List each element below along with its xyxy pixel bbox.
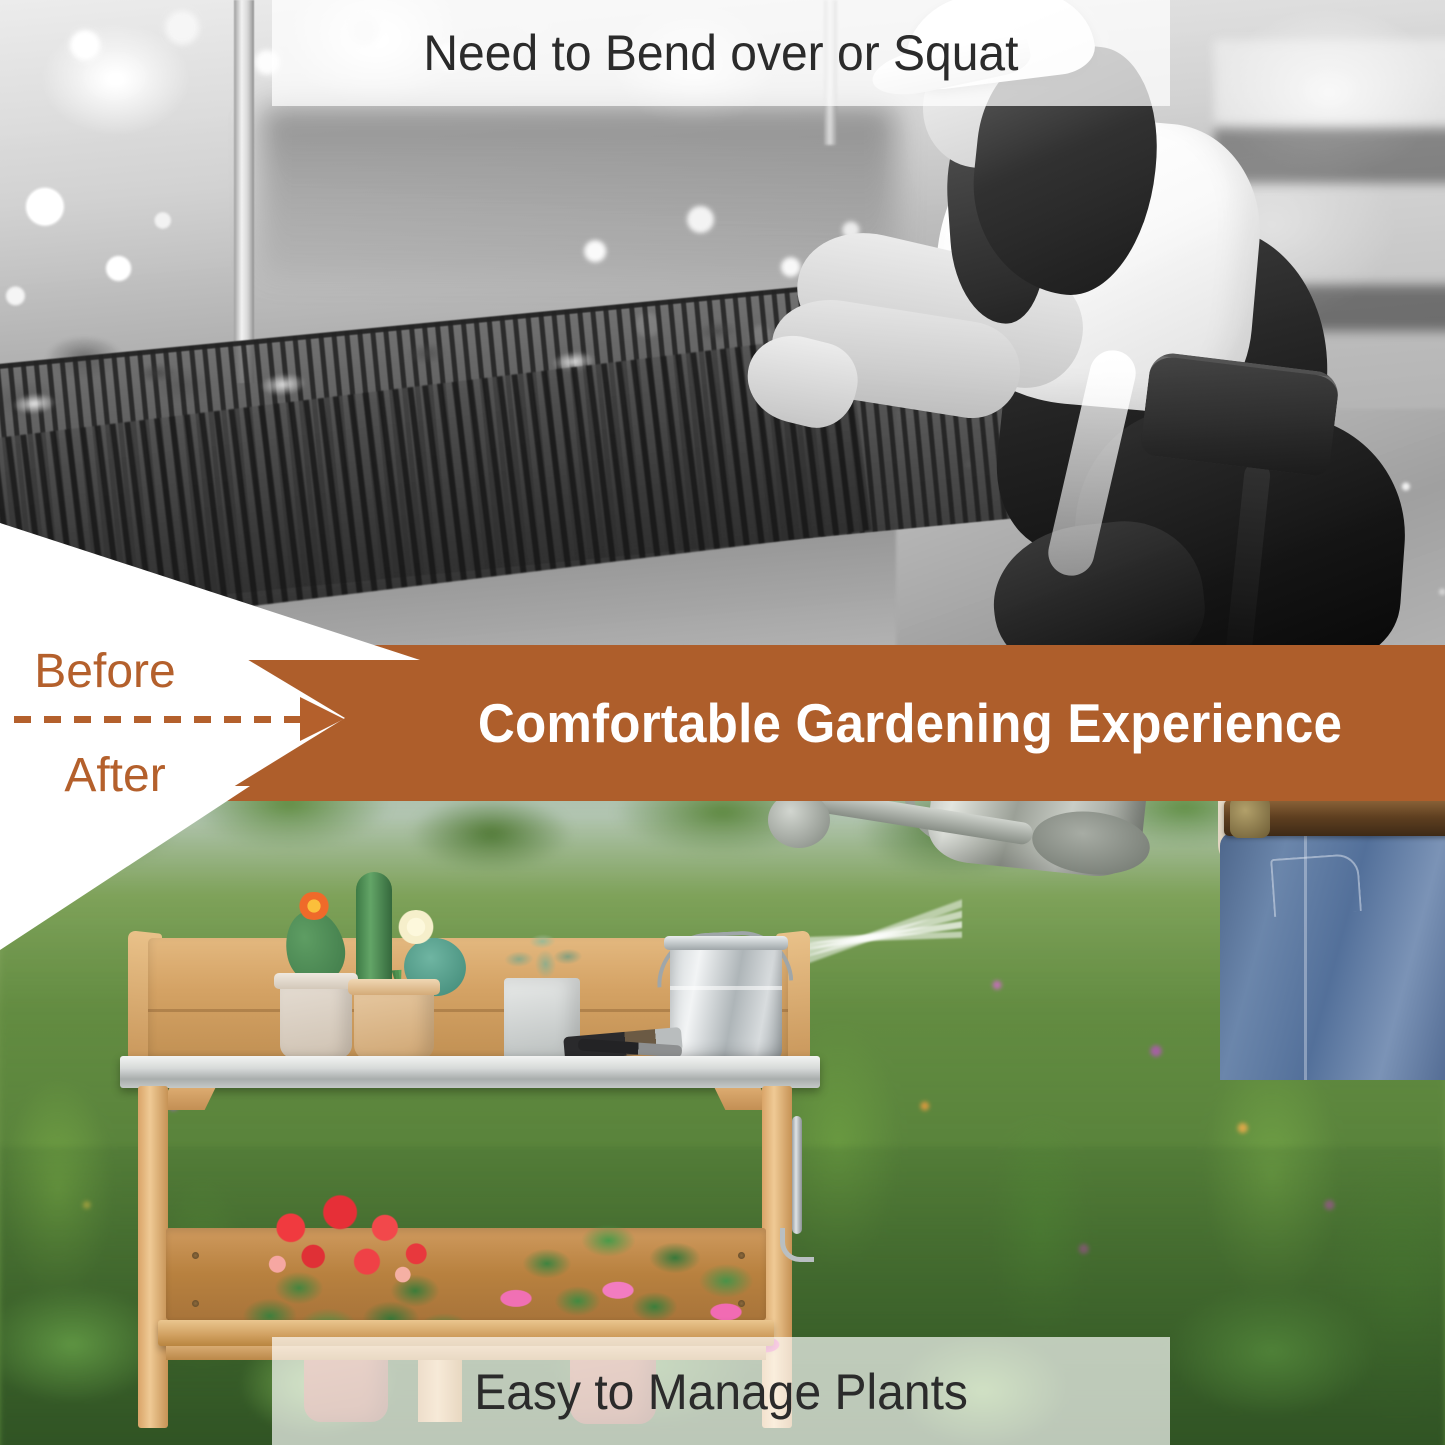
bench-screw	[192, 1252, 199, 1259]
bench-metal-tabletop	[120, 1056, 820, 1088]
banner-title: Comfortable Gardening Experience	[440, 645, 1379, 801]
stone-pot	[280, 980, 352, 1058]
caption-bottom-overlay: Easy to Manage Plants	[272, 1337, 1170, 1445]
caption-bottom-text: Easy to Manage Plants	[474, 1363, 968, 1421]
terracotta-pot	[354, 986, 434, 1060]
bench-tool-hook	[792, 1116, 802, 1234]
orange-cactus-flower	[296, 892, 332, 920]
red-begonia-flowers	[246, 1194, 470, 1324]
caption-top-text: Need to Bend over or Squat	[423, 24, 1018, 82]
jeans-pocket	[1270, 853, 1362, 917]
bench-leg-left	[138, 1086, 168, 1428]
product-comparison-poster: Need to Bend over or Squat	[0, 0, 1445, 1445]
right-arrow-icon	[300, 697, 344, 741]
before-label: Before	[0, 640, 210, 702]
caption-top-overlay: Need to Bend over or Squat	[272, 0, 1170, 106]
bench-screw	[192, 1300, 199, 1307]
galvanized-bucket	[670, 942, 782, 1062]
white-cactus-flower	[396, 910, 436, 944]
belt-buckle	[1230, 796, 1270, 838]
after-label: After	[10, 744, 220, 806]
comparison-dashed-line	[14, 716, 314, 723]
